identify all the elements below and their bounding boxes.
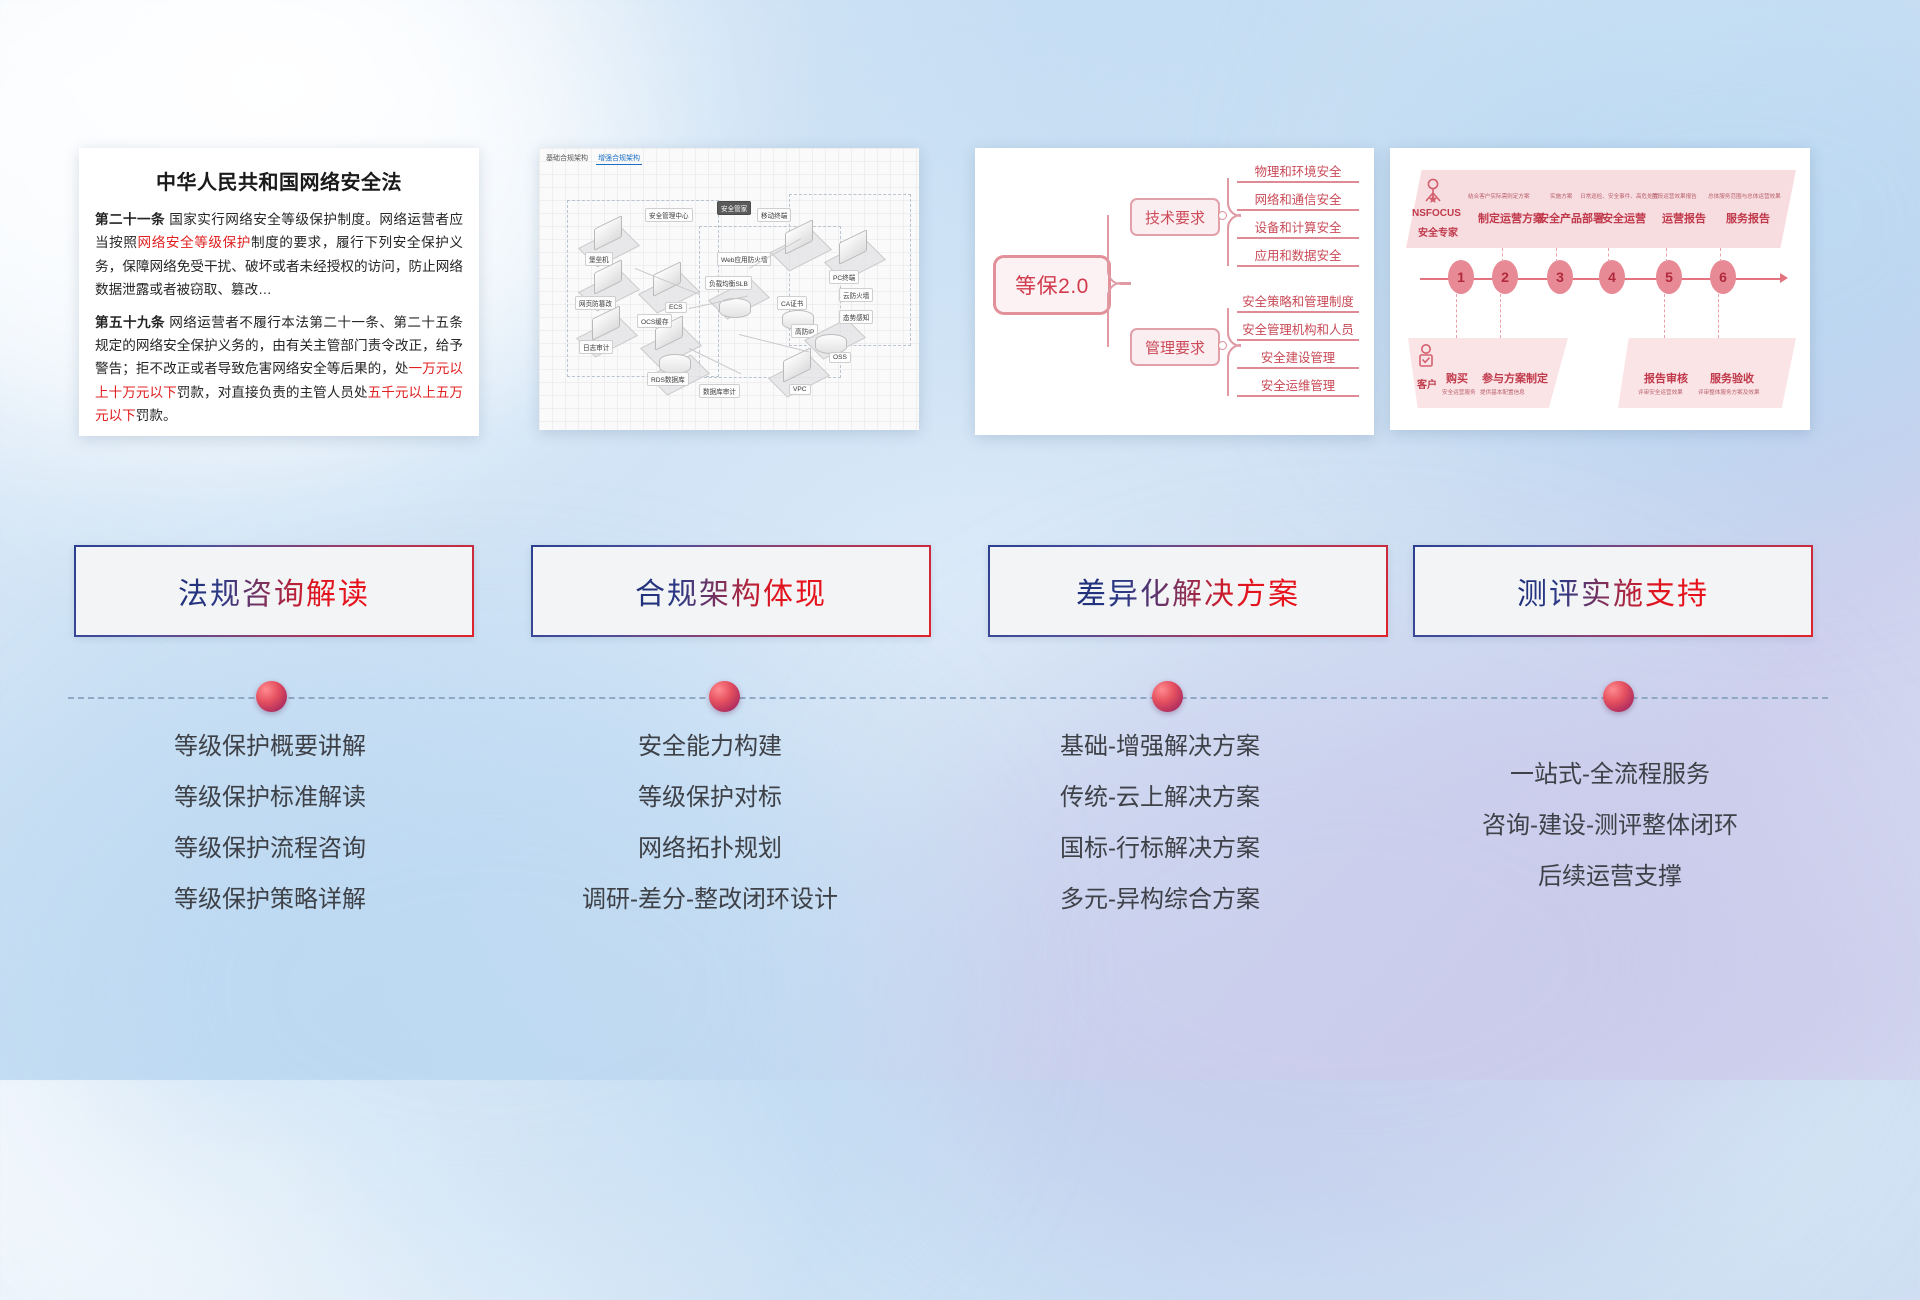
timeline-top-band [1406, 170, 1796, 248]
section-header-differentiated-solution[interactable]: 差异化解决方案 [988, 545, 1388, 637]
timeline-bottom-sub-1: 安全运营服务 [1442, 388, 1476, 396]
detail-column-1: 等级保护概要讲解 等级保护标准解读 等级保护流程咨询 等级保护策略详解 [60, 735, 480, 939]
expert-person-icon [1422, 178, 1444, 204]
node-label-anti-tamper: 网页防篡改 [575, 296, 616, 310]
illustration-cards-row: 中华人民共和国网络安全法 第二十一条 国家实行网络安全等级保护制度。网络运营者应… [0, 148, 1920, 448]
law-article-21: 第二十一条 国家实行网络安全等级保护制度。网络运营者应当按照网络安全等级保护制度… [95, 208, 463, 302]
mindmap-leaf-ops-mgmt: 安全运维管理 [1237, 372, 1359, 397]
timeline-bottom-main-2: 参与方案制定 [1482, 370, 1548, 386]
timeline-drop-bottom-1 [1456, 294, 1457, 338]
card-dengbao-mindmap: 等保2.0 技术要求 物理和环境安全 网络和通信安全 设备和计算安全 应用和数据… [975, 148, 1374, 435]
timeline-top-main-2: 安全产品部署 [1538, 210, 1604, 226]
rail-dot-2 [709, 681, 740, 712]
detail-column-4: 一站式-全流程服务 咨询-建设-测评整体闭环 后续运营支撑 [1385, 735, 1835, 916]
timeline-marker-5: 5 [1656, 260, 1682, 294]
list-item: 传统-云上解决方案 [950, 786, 1370, 810]
mindmap-leaf-construction-mgmt: 安全建设管理 [1237, 344, 1359, 369]
mindmap-branch-technical: 技术要求 [1130, 198, 1220, 236]
article-21-highlight: 网络安全等级保护 [138, 235, 251, 250]
timeline-top-main-5: 服务报告 [1726, 210, 1770, 226]
mindmap-leaf-physical-env: 物理和环境安全 [1237, 158, 1359, 183]
timeline-top-sub-5: 总体服务范围与总体运营效果 [1708, 192, 1781, 200]
section-header-compliance-architecture[interactable]: 合规架构体现 [531, 545, 931, 637]
list-item: 等级保护流程咨询 [60, 837, 480, 861]
timeline-actor-top-line1: NSFOCUS [1412, 208, 1461, 219]
list-item: 基础-增强解决方案 [950, 735, 1370, 759]
timeline-drop-bottom-5 [1664, 294, 1665, 338]
timeline-bottom-main-1: 购买 [1446, 370, 1468, 386]
timeline-drop-top-4 [1608, 248, 1609, 262]
node-label-pc-terminal: PC终端 [829, 270, 859, 284]
timeline-arrow-icon [1780, 273, 1788, 283]
list-item: 等级保护对标 [500, 786, 920, 810]
node-label-cloud-firewall: 云防火墙 [839, 288, 873, 302]
section-header-label-2: 合规架构体现 [635, 569, 827, 613]
list-item: 等级保护标准解读 [60, 786, 480, 810]
mindmap-branch-management: 管理要求 [1130, 328, 1220, 366]
section-header-label-4: 测评实施支持 [1517, 569, 1709, 613]
list-item: 等级保护概要讲解 [60, 735, 480, 759]
timeline-bottom-sub-2: 提供基本配置信息 [1480, 388, 1525, 396]
list-item: 调研-差分-整改闭环设计 [500, 888, 920, 912]
timeline-drop-bottom-6 [1718, 294, 1719, 338]
timeline-drop-top-6 [1720, 248, 1721, 262]
timeline-actor-top-line2: 安全专家 [1418, 224, 1458, 239]
list-item: 咨询-建设-测评整体闭环 [1385, 814, 1835, 838]
list-item: 等级保护策略详解 [60, 888, 480, 912]
node-label-ecs: ECS [665, 302, 687, 313]
mindmap-root: 等保2.0 [993, 255, 1111, 315]
node-label-mobile-terminal: 移动终端 [757, 208, 791, 222]
timeline-dashed-rail [68, 697, 1828, 699]
timeline-drop-top-2 [1502, 248, 1503, 262]
timeline-bottom-main-4: 服务验收 [1710, 370, 1754, 386]
timeline-top-sub-4: 阶段运营效果报告 [1652, 192, 1697, 200]
timeline-top-main-1: 制定运营方案 [1478, 210, 1544, 226]
article-59-mid: 罚款，对直接负责的主管人员处 [177, 385, 368, 400]
mindmap-leaf-policy-system: 安全策略和管理制度 [1237, 288, 1359, 313]
card-compliance-architecture: 基础合规架构 增强合规架构 安全管家 堡垒机 网页防篡改 日志审计 [539, 148, 919, 430]
node-label-oss: OSS [829, 352, 851, 363]
timeline-actor-bottom: 客户 [1417, 376, 1437, 391]
node-label-ca-cert: CA证书 [777, 296, 807, 310]
list-item: 后续运营支撑 [1385, 865, 1835, 889]
node-label-db-audit: 数据库审计 [699, 384, 740, 398]
node-label-security-manager: 安全管家 [717, 201, 751, 215]
timeline-marker-1: 1 [1448, 260, 1474, 294]
timeline-marker-2: 2 [1492, 260, 1518, 294]
mindmap-leaf-device-compute: 设备和计算安全 [1237, 214, 1359, 239]
list-item: 国标-行标解决方案 [950, 837, 1370, 861]
iso-node-rds [659, 354, 691, 374]
list-item: 网络拓扑规划 [500, 837, 920, 861]
timeline-bottom-sub-4: 评审整体服务方案及效果 [1698, 388, 1760, 396]
list-item: 一站式-全流程服务 [1385, 763, 1835, 787]
article-59-post: 罚款。 [136, 408, 177, 423]
node-label-vpc: VPC [789, 384, 811, 395]
diagram-tabs: 基础合规架构 增强合规架构 [544, 152, 642, 165]
node-label-situation-awareness: 态势感知 [839, 310, 873, 324]
timeline-top-sub-3: 日常巡检、安全事件、高危处置 [1580, 192, 1658, 200]
tab-basic-architecture[interactable]: 基础合规架构 [544, 152, 590, 165]
law-body: 中华人民共和国网络安全法 第二十一条 国家实行网络安全等级保护制度。网络运营者应… [79, 148, 479, 436]
node-label-log-audit: 日志审计 [579, 340, 613, 354]
mindmap-leaf-app-data: 应用和数据安全 [1237, 242, 1359, 267]
detail-column-3: 基础-增强解决方案 传统-云上解决方案 国标-行标解决方案 多元-异构综合方案 [950, 735, 1370, 939]
section-header-label-3: 差异化解决方案 [1076, 569, 1300, 613]
section-header-evaluation-support[interactable]: 测评实施支持 [1413, 545, 1813, 637]
node-label-security-center: 安全管理中心 [645, 208, 693, 222]
timeline-drop-top-5 [1666, 248, 1667, 262]
timeline-marker-3: 3 [1547, 260, 1573, 294]
rail-dot-4 [1603, 681, 1634, 712]
mindmap-collapse-dot-management [1218, 341, 1227, 350]
mindmap-edge-root-technical [1107, 215, 1131, 285]
timeline-drop-top-3 [1556, 248, 1557, 262]
timeline-top-sub-2: 实施方案 [1550, 192, 1572, 200]
timeline-bottom-main-3: 报告审核 [1644, 370, 1688, 386]
card-service-timeline: NSFOCUS 安全专家 结合客户实际需则定方案 制定运营方案 实施方案 安全产… [1390, 148, 1810, 430]
service-timeline: NSFOCUS 安全专家 结合客户实际需则定方案 制定运营方案 实施方案 安全产… [1390, 148, 1810, 430]
detail-column-2: 安全能力构建 等级保护对标 网络拓扑规划 调研-差分-整改闭环设计 [500, 735, 920, 939]
list-item: 安全能力构建 [500, 735, 920, 759]
article-59-label: 第五十九条 [95, 315, 165, 330]
rail-dot-3 [1152, 681, 1183, 712]
list-item: 多元-异构综合方案 [950, 888, 1370, 912]
mindmap-leaf-network-comm: 网络和通信安全 [1237, 186, 1359, 211]
card-cybersecurity-law: 中华人民共和国网络安全法 第二十一条 国家实行网络安全等级保护制度。网络运营者应… [79, 148, 479, 436]
node-label-slb: 负载均衡SLB [705, 276, 752, 290]
timeline-top-main-3: 安全运营 [1602, 210, 1646, 226]
section-headers-row: 法规咨询解读 合规架构体现 差异化解决方案 测评实施支持 [0, 545, 1920, 645]
timeline-marker-6: 6 [1710, 260, 1736, 294]
timeline-marker-4: 4 [1599, 260, 1625, 294]
timeline-top-sub-1: 结合客户实际需则定方案 [1468, 192, 1530, 200]
detail-columns-row: 等级保护概要讲解 等级保护标准解读 等级保护流程咨询 等级保护策略详解 安全能力… [0, 735, 1920, 1015]
timeline-top-main-4: 运营报告 [1662, 210, 1706, 226]
mindmap-edge-root-management [1107, 282, 1131, 347]
mindmap-leaf-org-personnel: 安全管理机构和人员 [1237, 316, 1359, 341]
law-article-59: 第五十九条 网络运营者不履行本法第二十一条、第二十五条规定的网络安全保护义务的，… [95, 311, 463, 428]
section-header-label-1: 法规咨询解读 [178, 569, 370, 613]
customer-person-icon [1416, 344, 1436, 370]
timeline-drop-bottom-2 [1500, 294, 1501, 338]
node-label-bastion: 堡垒机 [585, 252, 613, 266]
section-header-regulation-consulting[interactable]: 法规咨询解读 [74, 545, 474, 637]
mindmap: 等保2.0 技术要求 物理和环境安全 网络和通信安全 设备和计算安全 应用和数据… [975, 148, 1374, 435]
timeline-bottom-sub-3: 评审安全运营效果 [1638, 388, 1683, 396]
tab-enhanced-architecture[interactable]: 增强合规架构 [596, 152, 642, 165]
node-label-ocs-cache: OCS缓存 [637, 314, 672, 328]
rail-dot-1 [256, 681, 287, 712]
node-label-rds: RDS数据库 [647, 372, 689, 386]
law-title: 中华人民共和国网络安全法 [95, 166, 463, 195]
mindmap-collapse-dot-technical [1218, 211, 1227, 220]
architecture-diagram: 基础合规架构 增强合规架构 安全管家 堡垒机 网页防篡改 日志审计 [539, 148, 919, 430]
slide-stage: 中华人民共和国网络安全法 第二十一条 国家实行网络安全等级保护制度。网络运营者应… [0, 0, 1920, 1080]
article-21-label: 第二十一条 [95, 212, 165, 227]
iso-node-oss [815, 334, 847, 354]
